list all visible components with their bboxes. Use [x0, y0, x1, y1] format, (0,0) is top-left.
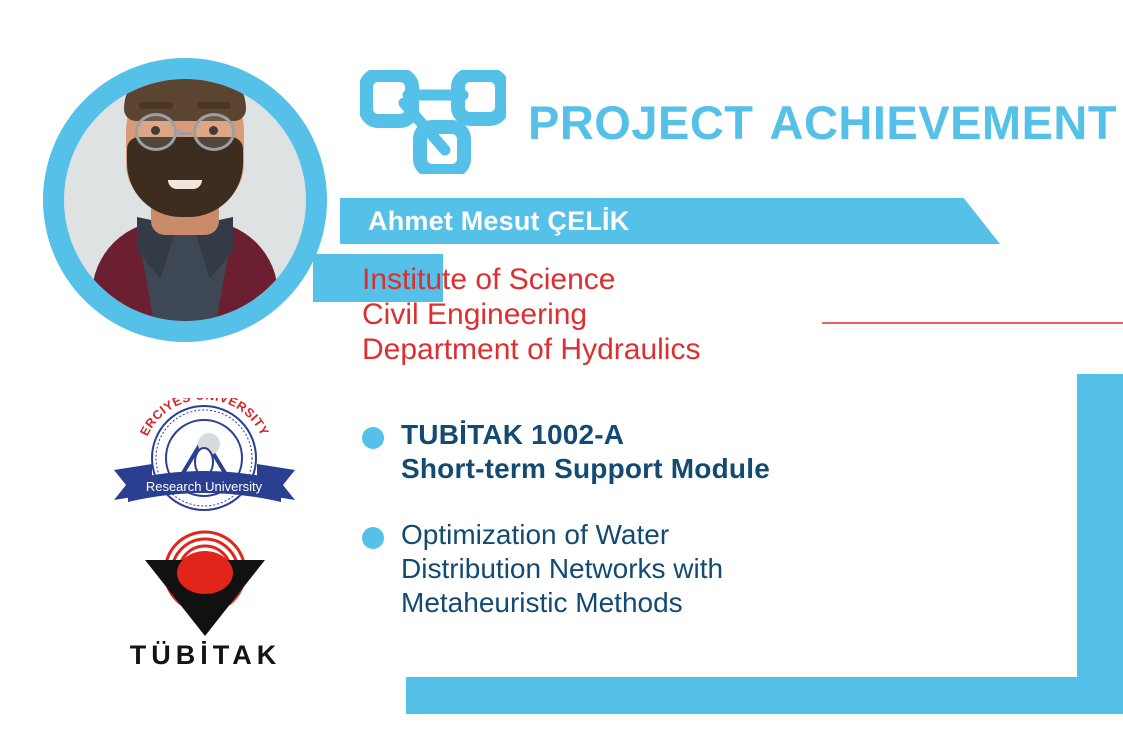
affiliation-line: Civil Engineering [362, 297, 700, 332]
page-title-part2: ACHIEVEMENT [770, 96, 1118, 149]
erciyes-ribbon-text: Research University [146, 479, 263, 494]
erciyes-university-logo: ERCIYES UNIVERSITY 1978 Research Univers… [112, 398, 297, 518]
page-title-part1: PROJECT [528, 96, 754, 149]
tubitak-logo: TÜBİTAK [118, 528, 293, 683]
avatar [43, 58, 327, 342]
project-title-text: Optimization of Water Distribution Netwo… [401, 518, 723, 620]
affiliation-line: Department of Hydraulics [362, 332, 700, 367]
network-nodes-icon [360, 70, 506, 174]
project-title-line: Optimization of Water [401, 519, 669, 550]
list-item: Optimization of Water Distribution Netwo… [362, 518, 962, 620]
poster-header: PROJECTACHIEVEMENT [360, 70, 1117, 174]
tubitak-wordmark: TÜBİTAK [118, 640, 293, 671]
tubitak-mark-icon [118, 528, 293, 638]
decorative-bracket-vertical [1077, 374, 1123, 677]
affiliation-line: Institute of Science [362, 262, 700, 297]
decorative-bracket-horizontal [406, 677, 1123, 714]
grant-program-line: Short-term Support Module [401, 453, 770, 484]
grant-program-text: TUBİTAK 1002-A Short-term Support Module [401, 418, 770, 486]
affiliation-block: Institute of Science Civil Engineering D… [362, 262, 700, 367]
bullet-dot-icon [362, 427, 384, 449]
avatar-photo [64, 79, 306, 321]
list-item: TUBİTAK 1002-A Short-term Support Module [362, 418, 962, 486]
person-name-banner: Ahmet Mesut ÇELİK [340, 198, 1000, 244]
person-name: Ahmet Mesut ÇELİK [340, 206, 629, 237]
project-achievement-poster: PROJECTACHIEVEMENT Ahmet Mesut ÇELİK Ins… [0, 0, 1123, 734]
project-title-line: Metaheuristic Methods [401, 587, 683, 618]
page-title: PROJECTACHIEVEMENT [528, 95, 1117, 150]
bullet-dot-icon [362, 527, 384, 549]
project-details-list: TUBİTAK 1002-A Short-term Support Module… [362, 418, 962, 652]
project-title-line: Distribution Networks with [401, 553, 723, 584]
divider-rule [822, 322, 1123, 324]
grant-program-line: TUBİTAK 1002-A [401, 419, 624, 450]
